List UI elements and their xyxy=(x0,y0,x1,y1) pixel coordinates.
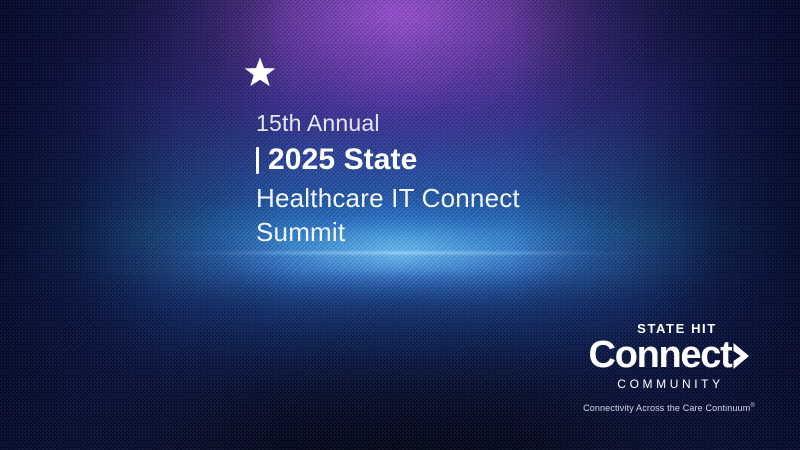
headline-block: 15th Annual 2025 State Healthcare IT Con… xyxy=(256,108,520,249)
headline-subtitle-line-1: Healthcare IT Connect xyxy=(256,181,520,215)
logo-community-text: COMMUNITY xyxy=(564,377,774,391)
registered-mark: ® xyxy=(750,403,755,409)
logo-wordmark: Connect xyxy=(589,335,732,375)
chevron-right-icon xyxy=(732,343,749,369)
logo-tagline-text: Connectivity Across the Care Continuum xyxy=(583,403,750,413)
logo-wordmark-row: Connect xyxy=(564,335,774,375)
headline-title: 2025 State xyxy=(268,140,417,180)
headline-title-row: 2025 State xyxy=(256,140,520,180)
title-slide: 15th Annual 2025 State Healthcare IT Con… xyxy=(0,0,800,450)
state-hit-connect-logo: STATE HIT Connect COMMUNITY Connectivity… xyxy=(564,322,774,414)
headline-subtitle-line-2: Summit xyxy=(256,215,520,249)
headline-kicker: 15th Annual xyxy=(256,108,520,139)
star-icon xyxy=(243,56,277,90)
title-accent-bar xyxy=(256,147,259,174)
logo-tagline: Connectivity Across the Care Continuum® xyxy=(564,400,774,414)
